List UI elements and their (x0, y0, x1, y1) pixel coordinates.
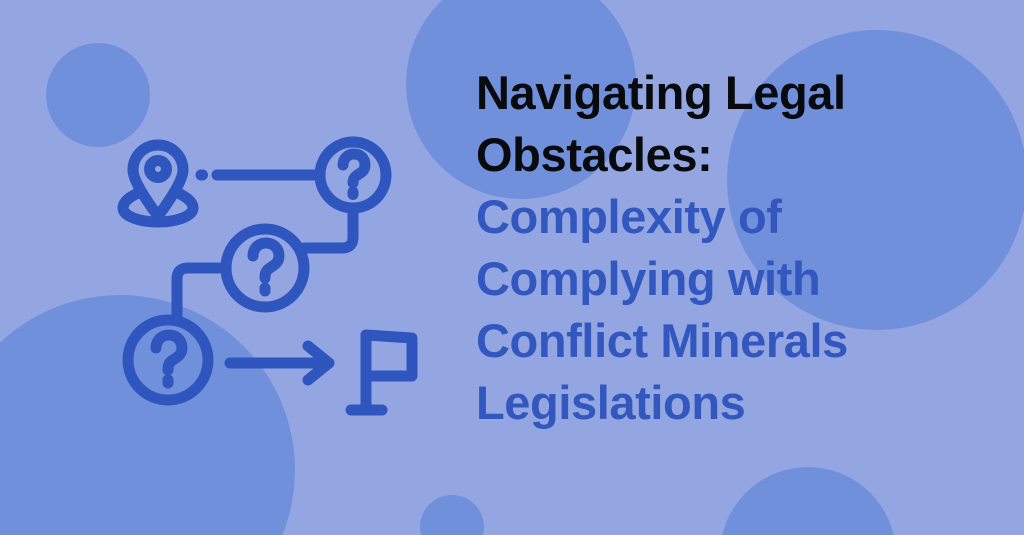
question-circle-1 (320, 142, 386, 208)
question-circle-3 (128, 320, 208, 400)
arrow-right-icon (230, 346, 329, 380)
title-line-2: Obstacles: (476, 124, 946, 186)
flag-icon (351, 335, 412, 410)
elbow-connector-2 (177, 268, 226, 319)
subtitle-line-2: Complying with (476, 248, 946, 310)
title-line-1: Navigating Legal (476, 62, 946, 124)
elbow-connector-1 (304, 210, 353, 248)
journey-with-questions-diagram (110, 120, 430, 420)
question-circle-2 (226, 229, 304, 307)
subtitle-line-1: Complexity of (476, 186, 946, 248)
page-title: Navigating Legal Obstacles: (476, 62, 946, 186)
banner-root: Navigating Legal Obstacles: Complexity o… (0, 0, 1024, 535)
subtitle-line-4: Legislations (476, 372, 946, 434)
location-pin-icon (123, 145, 193, 222)
page-subtitle: Complexity of Complying with Conflict Mi… (476, 186, 946, 434)
subtitle-line-3: Conflict Minerals (476, 310, 946, 372)
headline-block: Navigating Legal Obstacles: Complexity o… (476, 62, 946, 434)
